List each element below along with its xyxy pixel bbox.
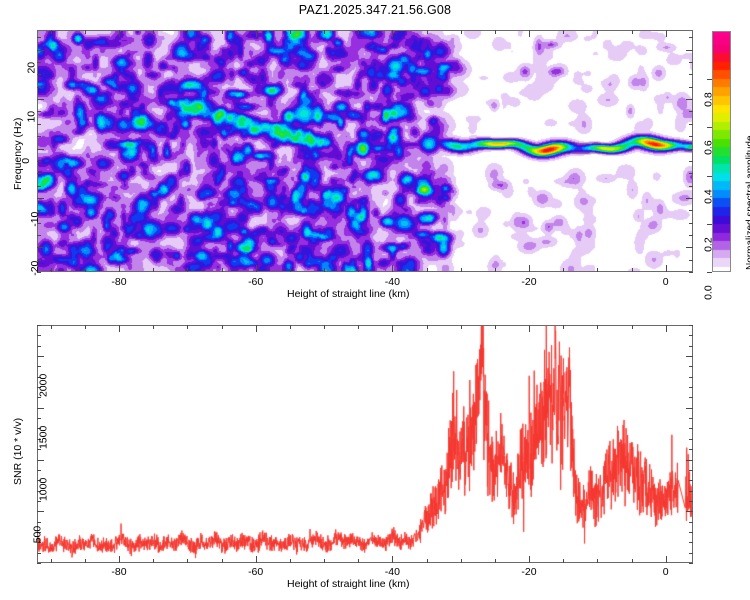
x-tick-label: -80	[111, 276, 126, 288]
axis-tick	[119, 265, 120, 272]
axis-tick	[119, 556, 120, 563]
axis-tick	[461, 268, 462, 272]
axis-tick	[689, 124, 693, 125]
figure-root: PAZ1.2025.347.21.56.G08 -80-60-40-200-20…	[0, 0, 750, 600]
axis-tick	[666, 556, 667, 563]
x-tick-label: -20	[521, 276, 536, 288]
spectrogram-xaxis-label: Height of straight line (km)	[287, 288, 410, 300]
snr-xaxis-label: Height of straight line (km)	[287, 578, 410, 590]
axis-tick	[689, 387, 693, 388]
axis-tick	[689, 260, 693, 261]
axis-tick	[597, 559, 598, 563]
axis-tick	[632, 559, 633, 563]
axis-tick	[689, 335, 693, 336]
axis-tick	[597, 325, 598, 329]
axis-tick	[187, 268, 188, 272]
colorbar-tick	[707, 176, 712, 177]
axis-tick	[37, 511, 44, 512]
spectrogram-plot-area	[37, 30, 693, 272]
colorbar-tick-label: 0.4	[703, 189, 715, 204]
axis-tick	[37, 397, 41, 398]
axis-tick	[51, 30, 52, 34]
axis-tick	[37, 186, 41, 187]
y-tick-label: 1000	[37, 477, 49, 500]
axis-tick	[37, 553, 41, 554]
axis-tick	[689, 272, 693, 273]
axis-tick	[153, 30, 154, 34]
axis-tick	[689, 136, 693, 137]
axis-tick	[666, 265, 667, 272]
axis-tick	[689, 223, 693, 224]
y-tick-label: -10	[29, 212, 41, 227]
axis-tick	[632, 325, 633, 329]
axis-tick	[256, 556, 257, 563]
axis-tick	[689, 37, 693, 38]
axis-tick	[51, 325, 52, 329]
axis-tick	[392, 30, 393, 37]
axis-tick	[187, 30, 188, 34]
axis-tick	[689, 74, 693, 75]
axis-tick	[37, 235, 41, 236]
x-tick-label: 0	[663, 566, 669, 578]
axis-tick	[324, 325, 325, 329]
y-tick-label: 10	[26, 111, 38, 123]
axis-tick	[563, 268, 564, 272]
axis-tick	[187, 325, 188, 329]
x-tick-label: -60	[248, 566, 263, 578]
axis-tick	[427, 30, 428, 34]
colorbar	[712, 31, 731, 272]
axis-tick	[51, 268, 52, 272]
axis-tick	[37, 449, 41, 450]
axis-tick	[529, 556, 530, 563]
axis-tick	[358, 559, 359, 563]
axis-tick	[529, 30, 530, 37]
axis-tick	[85, 268, 86, 272]
axis-tick	[85, 325, 86, 329]
colorbar-tick-label: 0.2	[703, 237, 715, 252]
axis-tick	[392, 325, 393, 332]
axis-tick	[37, 149, 44, 150]
axis-tick	[427, 559, 428, 563]
axis-tick	[689, 501, 693, 502]
axis-tick	[686, 408, 693, 409]
axis-tick	[37, 522, 41, 523]
y-tick-label: -20	[29, 261, 41, 276]
axis-tick	[686, 356, 693, 357]
axis-tick	[37, 470, 41, 471]
axis-tick	[37, 87, 41, 88]
axis-tick	[689, 377, 693, 378]
axis-tick	[689, 87, 693, 88]
x-tick-label: 0	[663, 276, 669, 288]
axis-tick	[37, 124, 41, 125]
axis-tick	[37, 325, 41, 326]
axis-tick	[37, 136, 41, 137]
spectrogram-image	[38, 31, 692, 271]
axis-tick	[37, 50, 44, 51]
y-tick-label: 500	[32, 526, 44, 544]
axis-tick	[427, 325, 428, 329]
axis-tick	[666, 30, 667, 37]
axis-tick	[689, 173, 693, 174]
figure-title: PAZ1.2025.347.21.56.G08	[0, 3, 750, 17]
snr-yaxis-label: SNR (10 * v/v)	[12, 418, 24, 485]
axis-tick	[461, 325, 462, 329]
axis-tick	[119, 30, 120, 37]
axis-tick	[37, 37, 41, 38]
x-tick-label: -20	[521, 566, 536, 578]
axis-tick	[37, 161, 41, 162]
x-tick-label: -60	[248, 276, 263, 288]
y-tick-label: 20	[26, 62, 38, 74]
axis-tick	[689, 563, 693, 564]
axis-tick	[689, 553, 693, 554]
axis-tick	[495, 559, 496, 563]
axis-tick	[689, 522, 693, 523]
axis-tick	[529, 325, 530, 332]
axis-tick	[689, 366, 693, 367]
axis-tick	[689, 532, 693, 533]
axis-tick	[222, 30, 223, 34]
axis-tick	[37, 99, 44, 100]
y-tick-label: 2000	[37, 374, 49, 397]
axis-tick	[689, 428, 693, 429]
axis-tick	[290, 559, 291, 563]
axis-tick	[153, 268, 154, 272]
y-tick-label: 1500	[37, 425, 49, 448]
axis-tick	[37, 356, 44, 357]
axis-tick	[392, 265, 393, 272]
axis-tick	[37, 74, 41, 75]
axis-tick	[689, 397, 693, 398]
x-tick-label: -40	[385, 276, 400, 288]
axis-tick	[153, 325, 154, 329]
axis-tick	[686, 99, 693, 100]
axis-tick	[290, 268, 291, 272]
axis-tick	[689, 161, 693, 162]
axis-tick	[37, 366, 41, 367]
axis-tick	[563, 325, 564, 329]
axis-tick	[686, 50, 693, 51]
axis-tick	[689, 449, 693, 450]
colorbar-title: Normalized spectral amplitude	[745, 135, 750, 270]
axis-tick	[495, 325, 496, 329]
axis-tick	[37, 460, 44, 461]
colorbar-tick-label: 0.8	[703, 92, 715, 107]
axis-tick	[597, 30, 598, 34]
axis-tick	[461, 559, 462, 563]
colorbar-tick	[707, 224, 712, 225]
axis-tick	[51, 559, 52, 563]
snr-plot-area	[37, 325, 693, 563]
colorbar-tick-label: 0.0	[703, 285, 715, 300]
axis-tick	[37, 501, 41, 502]
axis-tick	[686, 149, 693, 150]
axis-tick	[686, 247, 693, 248]
axis-tick	[358, 30, 359, 34]
axis-tick	[686, 198, 693, 199]
axis-tick	[689, 62, 693, 63]
axis-tick	[37, 563, 41, 564]
axis-tick	[689, 111, 693, 112]
axis-tick	[563, 30, 564, 34]
x-tick-label: -40	[385, 566, 400, 578]
axis-tick	[689, 542, 693, 543]
axis-tick	[392, 556, 393, 563]
colorbar-gradient	[713, 32, 730, 271]
axis-tick	[666, 325, 667, 332]
axis-tick	[37, 335, 41, 336]
colorbar-tick	[707, 79, 712, 80]
axis-tick	[324, 30, 325, 34]
axis-tick	[686, 511, 693, 512]
axis-tick	[563, 559, 564, 563]
axis-tick	[597, 268, 598, 272]
axis-tick	[222, 559, 223, 563]
axis-tick	[689, 418, 693, 419]
axis-tick	[290, 30, 291, 34]
axis-tick	[256, 265, 257, 272]
axis-tick	[461, 30, 462, 34]
axis-tick	[689, 186, 693, 187]
axis-tick	[689, 480, 693, 481]
axis-tick	[153, 559, 154, 563]
axis-tick	[37, 346, 41, 347]
axis-tick	[256, 30, 257, 37]
axis-tick	[37, 198, 44, 199]
colorbar-tick	[707, 127, 712, 128]
axis-tick	[256, 325, 257, 332]
axis-tick	[632, 30, 633, 34]
axis-tick	[324, 559, 325, 563]
axis-tick	[689, 491, 693, 492]
axis-tick	[358, 325, 359, 329]
axis-tick	[358, 268, 359, 272]
axis-tick	[222, 268, 223, 272]
snr-line-series	[38, 326, 692, 562]
axis-tick	[85, 559, 86, 563]
axis-tick	[37, 408, 44, 409]
axis-tick	[495, 268, 496, 272]
axis-tick	[324, 268, 325, 272]
axis-tick	[495, 30, 496, 34]
axis-tick	[427, 268, 428, 272]
axis-tick	[689, 439, 693, 440]
axis-tick	[632, 268, 633, 272]
axis-tick	[37, 418, 41, 419]
axis-tick	[37, 173, 41, 174]
axis-tick	[37, 247, 44, 248]
axis-tick	[529, 265, 530, 272]
x-tick-label: -80	[111, 566, 126, 578]
axis-tick	[85, 30, 86, 34]
axis-tick	[689, 325, 693, 326]
axis-tick	[686, 460, 693, 461]
axis-tick	[689, 210, 693, 211]
colorbar-tick	[707, 272, 712, 273]
axis-tick	[689, 346, 693, 347]
axis-tick	[689, 235, 693, 236]
colorbar-tick-label: 0.6	[703, 140, 715, 155]
axis-tick	[222, 325, 223, 329]
spectrogram-yaxis-label: Frequency (Hz)	[12, 118, 24, 190]
axis-tick	[119, 325, 120, 332]
axis-tick	[290, 325, 291, 329]
axis-tick	[689, 470, 693, 471]
axis-tick	[187, 559, 188, 563]
